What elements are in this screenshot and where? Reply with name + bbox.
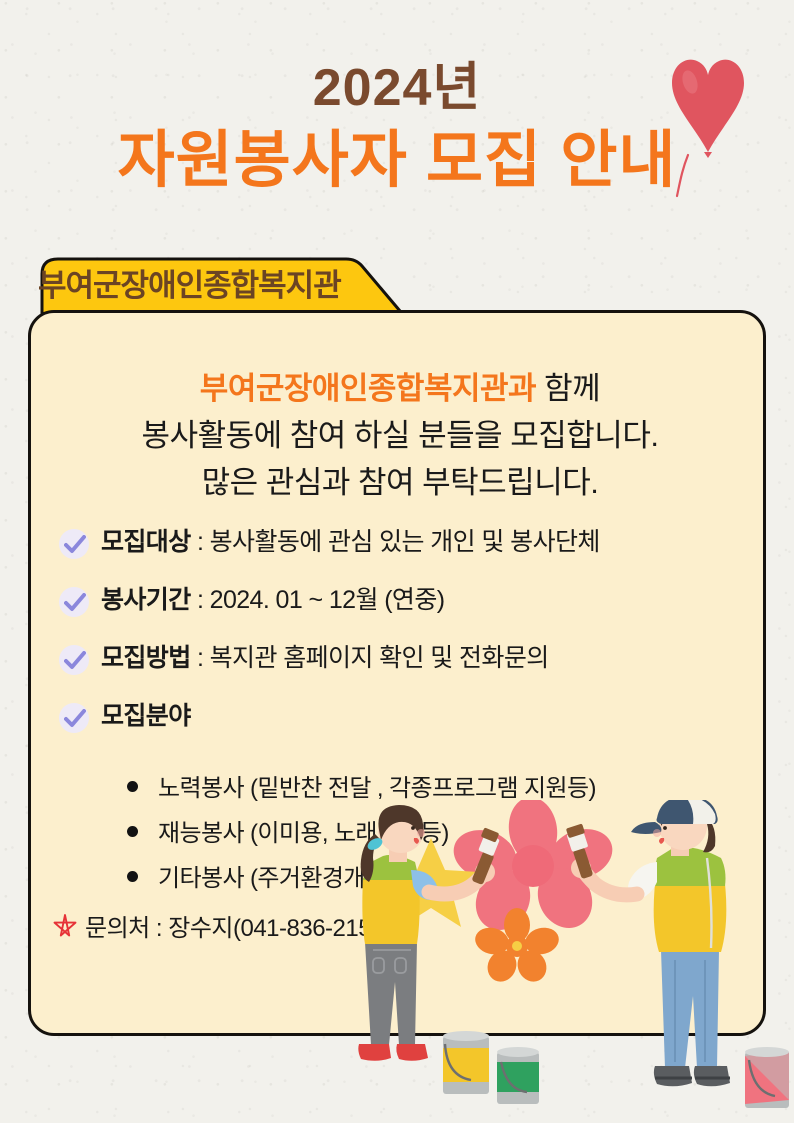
check-label: 봉사기간 <box>101 586 191 614</box>
poster-page: 2024년 자원봉사자 모집 안내 부여군장애인종합복지관 부여군장애인종합복지… <box>0 0 794 1123</box>
check-row-recruit-method: 모집방법 : 복지관 홈페이지 확인 및 전화문의 <box>59 642 759 675</box>
card-tab-label: 부여군장애인종합복지관 <box>38 262 418 310</box>
intro-block: 부여군장애인종합복지관과 함께 봉사활동에 참여 하실 분들을 모집합니다. 많… <box>31 365 766 506</box>
check-text: 모집분야 <box>101 700 191 733</box>
two-volunteers-painting-illustration <box>355 800 794 1123</box>
heart-balloon-icon <box>652 48 762 198</box>
star-icon <box>51 912 79 940</box>
check-row-recruit-field: 모집분야 <box>59 700 759 733</box>
green-paint-bucket <box>497 1047 539 1104</box>
list-item: 노력봉사 (밑반찬 전달 , 각종프로그램 지원등) <box>127 768 747 803</box>
check-row-recruit-target: 모집대상 : 봉사활동에 관심 있는 개인 및 봉사단체 <box>59 526 759 559</box>
intro-line-2: 봉사활동에 참여 하실 분들을 모집합니다. <box>31 412 766 459</box>
yellow-paint-bucket <box>443 1031 489 1094</box>
check-icon <box>59 645 89 675</box>
check-text: 모집방법 : 복지관 홈페이지 확인 및 전화문의 <box>101 642 549 675</box>
poster-header: 2024년 자원봉사자 모집 안내 <box>0 0 794 250</box>
check-icon <box>59 587 89 617</box>
check-label: 모집대상 <box>101 528 191 556</box>
check-value: : 2024. 01 ~ 12월 (연중) <box>191 586 445 614</box>
contact-text: 문의처 : 장수지(041-836-2157) <box>85 908 391 943</box>
pink-flower <box>447 800 619 940</box>
check-icon <box>59 529 89 559</box>
intro-accent-org: 부여군장애인종합복지관과 <box>200 371 536 406</box>
check-list: 모집대상 : 봉사활동에 관심 있는 개인 및 봉사단체 봉사기간 : 2024… <box>59 526 759 758</box>
check-text: 모집대상 : 봉사활동에 관심 있는 개인 및 봉사단체 <box>101 526 600 559</box>
check-value: : 복지관 홈페이지 확인 및 전화문의 <box>191 644 549 672</box>
check-value: : 봉사활동에 관심 있는 개인 및 봉사단체 <box>191 528 600 556</box>
intro-line-3: 많은 관심과 참여 부탁드립니다. <box>31 459 766 506</box>
intro-line-1: 부여군장애인종합복지관과 함께 <box>31 365 766 412</box>
check-text: 봉사기간 : 2024. 01 ~ 12월 (연중) <box>101 584 444 617</box>
check-icon <box>59 703 89 733</box>
sub-item-label: 노력봉사 (밑반찬 전달 , 각종프로그램 지원등) <box>158 768 596 803</box>
bullet-dot-icon <box>127 781 138 792</box>
check-label: 모집방법 <box>101 644 191 672</box>
contact-row: 문의처 : 장수지(041-836-2157) <box>51 908 391 943</box>
check-label: 모집분야 <box>101 702 191 730</box>
bullet-dot-icon <box>127 826 138 837</box>
pink-paint-bucket <box>745 1047 789 1108</box>
bullet-dot-icon <box>127 871 138 882</box>
check-row-volunteer-period: 봉사기간 : 2024. 01 ~ 12월 (연중) <box>59 584 759 617</box>
intro-line-1-rest: 함께 <box>536 371 600 406</box>
